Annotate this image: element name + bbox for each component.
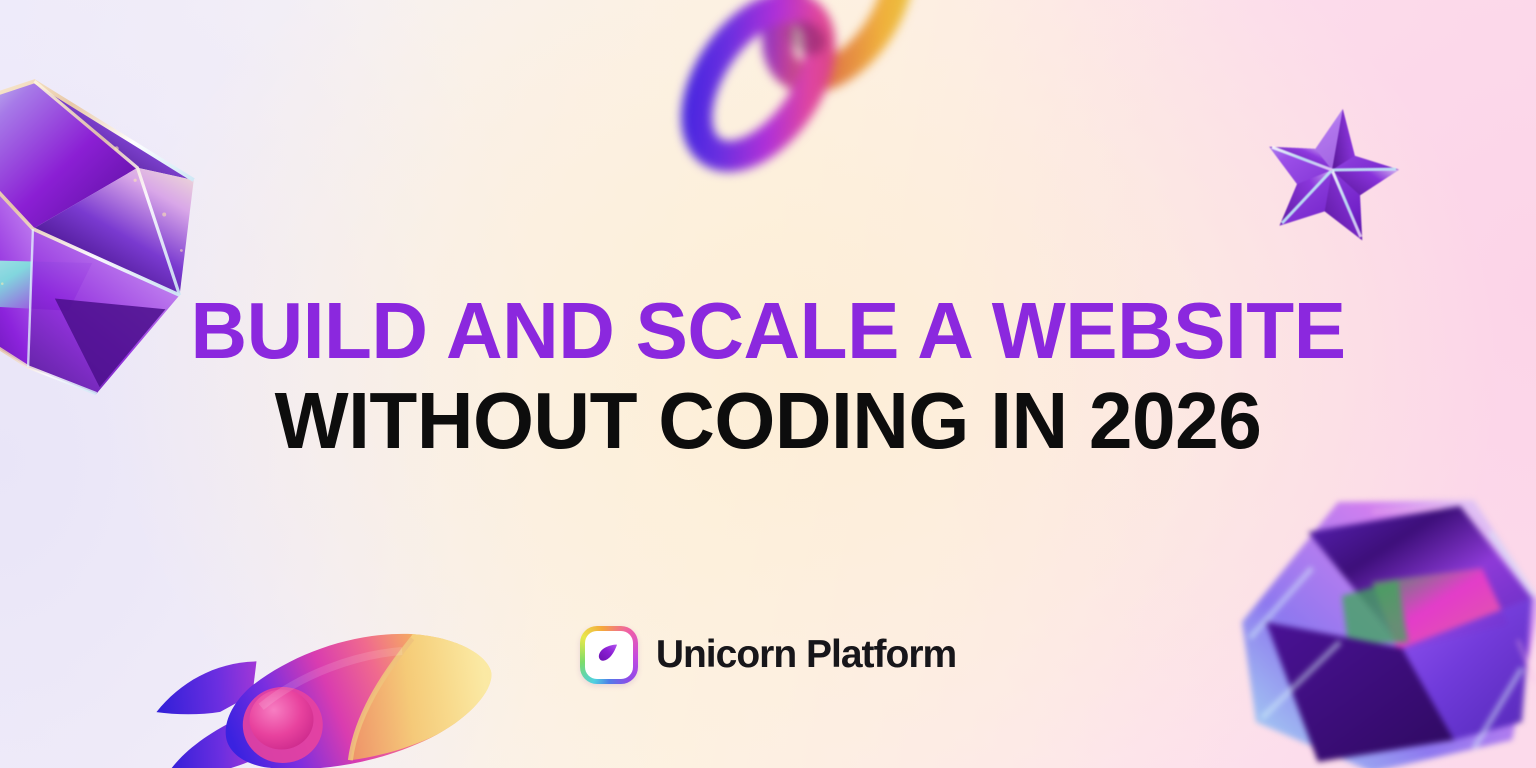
crystal-cube-icon bbox=[1222, 472, 1536, 768]
logo-mark-inner bbox=[585, 631, 633, 679]
hero-banner: BUILD AND SCALE A WEBSITE WITHOUT CODING… bbox=[0, 0, 1536, 768]
unicorn-droplet-icon bbox=[580, 626, 638, 684]
crystal-star-icon bbox=[1251, 89, 1413, 251]
headline-line-2: WITHOUT CODING IN 2026 bbox=[15, 376, 1520, 466]
brand-name: Unicorn Platform bbox=[656, 633, 956, 677]
brand-logo-lockup[interactable]: Unicorn Platform bbox=[0, 626, 1536, 684]
headline-line-1: BUILD AND SCALE A WEBSITE bbox=[15, 286, 1520, 376]
droplet-glyph bbox=[593, 639, 625, 671]
headline: BUILD AND SCALE A WEBSITE WITHOUT CODING… bbox=[0, 286, 1536, 466]
chain-links-icon bbox=[636, 0, 974, 195]
